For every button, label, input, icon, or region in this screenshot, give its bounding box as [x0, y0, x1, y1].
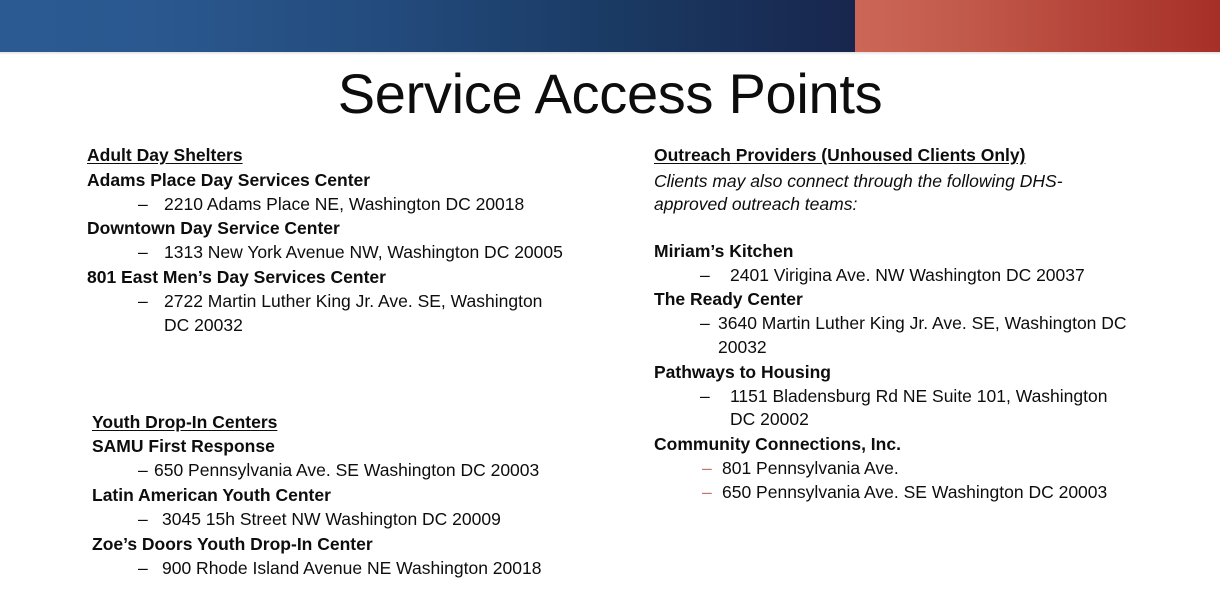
dash-marker: – [138, 241, 164, 265]
address-bullet: – 1151 Bladensburg Rd NE Suite 101, Wash… [654, 385, 1134, 433]
address-bullet: – 2401 Virigina Ave. NW Washington DC 20… [654, 264, 1134, 288]
dash-marker: – [702, 457, 722, 481]
dash-marker: – [138, 557, 162, 581]
provider-name: Latin American Youth Center [92, 483, 587, 508]
address-text: 3045 15h Street NW Washington DC 20009 [162, 508, 582, 532]
address-bullet: – 650 Pennsylvania Ave. SE Washington DC… [92, 459, 587, 483]
address-bullet: – 3640 Martin Luther King Jr. Ave. SE, W… [654, 312, 1134, 360]
dash-marker: – [138, 193, 164, 217]
address-bullet: – 3045 15h Street NW Washington DC 20009 [92, 508, 587, 532]
section-heading: Youth Drop-In Centers [92, 410, 587, 435]
header-band-shadow [0, 52, 1220, 55]
provider-name: Community Connections, Inc. [654, 432, 1134, 457]
section-youth-drop-in-centers: Youth Drop-In Centers SAMU First Respons… [92, 410, 587, 581]
section-intro-text: Clients may also connect through the fol… [654, 170, 1134, 217]
header-band-red [855, 0, 1220, 52]
provider-name: Pathways to Housing [654, 360, 1134, 385]
address-bullet: – 1313 New York Avenue NW, Washington DC… [87, 241, 587, 265]
address-text: 900 Rhode Island Avenue NE Washington 20… [162, 557, 582, 581]
section-heading: Adult Day Shelters [87, 143, 587, 168]
address-bullet: – 2722 Martin Luther King Jr. Ave. SE, W… [87, 290, 587, 338]
left-column: Adult Day Shelters Adams Place Day Servi… [87, 143, 587, 580]
provider-name: The Ready Center [654, 287, 1134, 312]
dash-marker: – [702, 481, 722, 505]
section-adult-day-shelters: Adult Day Shelters Adams Place Day Servi… [87, 143, 587, 338]
dash-marker: – [700, 264, 730, 288]
address-bullet: – 801 Pennsylvania Ave. [654, 457, 1134, 481]
section-heading: Outreach Providers (Unhoused Clients Onl… [654, 143, 1134, 168]
dash-marker: – [138, 459, 154, 483]
section-spacer [87, 338, 587, 410]
provider-name: SAMU First Response [92, 434, 587, 459]
right-column: Outreach Providers (Unhoused Clients Onl… [654, 143, 1134, 505]
dash-marker: – [700, 385, 730, 409]
address-text: 650 Pennsylvania Ave. SE Washington DC 2… [722, 481, 1134, 505]
intro-spacer [654, 217, 1134, 239]
address-text: 1313 New York Avenue NW, Washington DC 2… [164, 241, 564, 265]
dash-marker: – [138, 508, 162, 532]
address-text: 801 Pennsylvania Ave. [722, 457, 1134, 481]
provider-name: Adams Place Day Services Center [87, 168, 587, 193]
header-decorative-band [0, 0, 1220, 52]
address-text: 650 Pennsylvania Ave. SE Washington DC 2… [154, 459, 574, 483]
dash-marker: – [138, 290, 164, 314]
provider-name: Zoe’s Doors Youth Drop-In Center [92, 532, 587, 557]
address-bullet: – 900 Rhode Island Avenue NE Washington … [92, 557, 587, 581]
address-text: 1151 Bladensburg Rd NE Suite 101, Washin… [730, 385, 1130, 433]
provider-name: Miriam’s Kitchen [654, 239, 1134, 264]
address-text: 2401 Virigina Ave. NW Washington DC 2003… [730, 264, 1130, 288]
address-bullet: – 2210 Adams Place NE, Washington DC 200… [87, 193, 587, 217]
slide: Service Access Points Adult Day Shelters… [0, 0, 1220, 600]
address-text: 3640 Martin Luther King Jr. Ave. SE, Was… [718, 312, 1134, 360]
address-bullet: – 650 Pennsylvania Ave. SE Washington DC… [654, 481, 1134, 505]
page-title: Service Access Points [0, 62, 1220, 126]
dash-marker: – [700, 312, 718, 336]
provider-name: Downtown Day Service Center [87, 216, 587, 241]
header-band-blue [0, 0, 855, 52]
address-text: 2722 Martin Luther King Jr. Ave. SE, Was… [164, 290, 564, 338]
address-text: 2210 Adams Place NE, Washington DC 20018 [164, 193, 564, 217]
provider-name: 801 East Men’s Day Services Center [87, 265, 587, 290]
